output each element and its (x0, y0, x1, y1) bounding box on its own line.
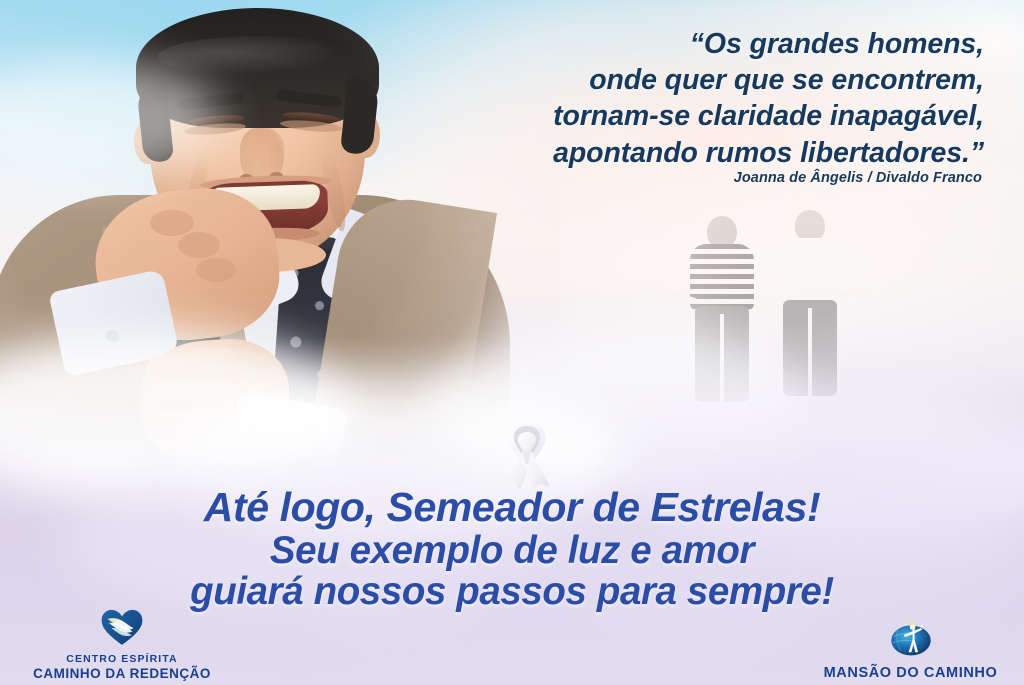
logo-centro-espirita-caminho-da-redencao: CENTRO ESPÍRITA CAMINHO DA REDENÇÃO (22, 608, 222, 681)
logo-left-line-2: CAMINHO DA REDENÇÃO (33, 666, 211, 681)
memorial-tribute-poster: “Os grandes homens, onde quer que se enc… (0, 0, 1024, 685)
logo-left-text: CENTRO ESPÍRITA CAMINHO DA REDENÇÃO (33, 654, 211, 681)
logo-right-text: MANSÃO DO CAMINHO (824, 665, 998, 681)
quote-line-1: “Os grandes homens, (364, 26, 984, 62)
quote-line-2: onde quer que se encontrem, (364, 62, 984, 98)
quote-line-4: apontando rumos libertadores.” (364, 135, 984, 171)
headline-line-1: Até logo, Semeador de Estrelas! (0, 486, 1024, 530)
logo-left-line-1: CENTRO ESPÍRITA (33, 654, 211, 666)
faded-photo-two-figures-walking (560, 150, 1024, 440)
page-title: Até logo, Semeador de Estrelas! Seu exem… (0, 486, 1024, 612)
headline-line-2: Seu exemplo de luz e amor (0, 530, 1024, 571)
globe-figure-flame-icon (888, 616, 934, 662)
heart-hands-icon (100, 608, 144, 651)
hair (136, 8, 379, 128)
logo-mansao-do-caminho: MANSÃO DO CAMINHO (803, 616, 1018, 681)
quote-line-3: tornam-se claridade inapagável, (364, 98, 984, 134)
headline-line-3: guiará nossos passos para sempre! (0, 571, 1024, 612)
logo-right-line-1: MANSÃO DO CAMINHO (824, 665, 998, 681)
quote-text: “Os grandes homens, onde quer que se enc… (364, 26, 984, 171)
quote-attribution: Joanna de Ângelis / Divaldo Franco (362, 170, 982, 186)
mourning-ribbon-icon (482, 408, 572, 490)
